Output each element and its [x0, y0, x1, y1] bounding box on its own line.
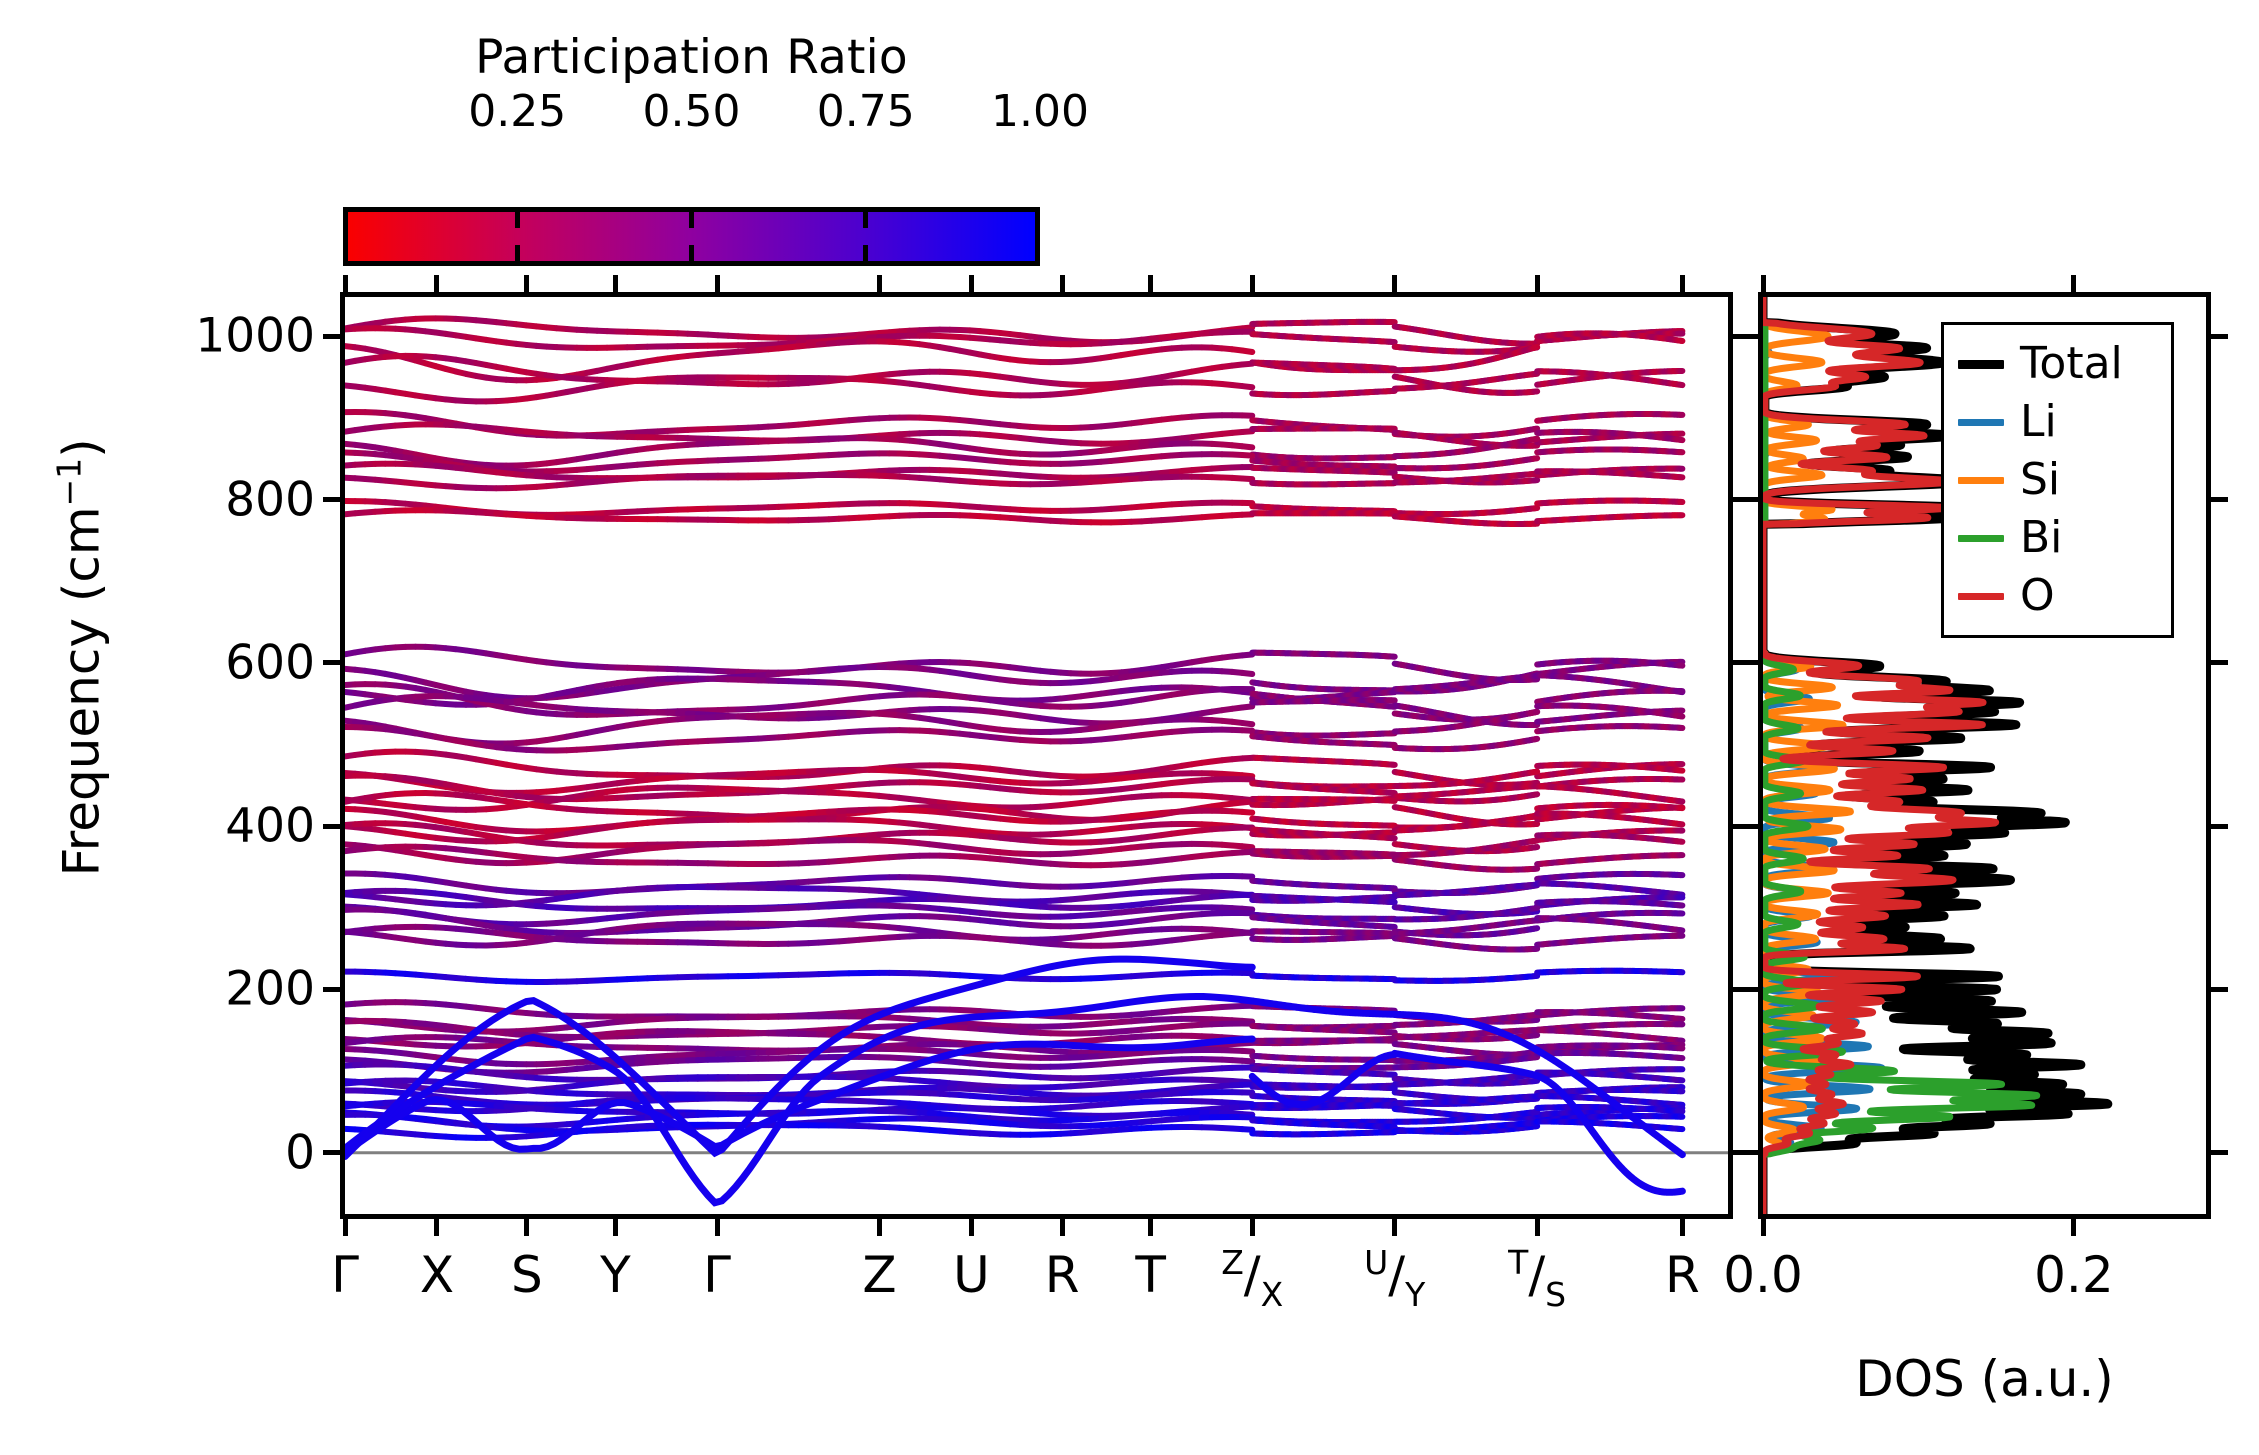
- colorbar-tick-mark: [515, 212, 520, 228]
- colorbar-tick-label: 0.25: [468, 86, 566, 137]
- colorbar-title: Participation Ratio: [343, 30, 1040, 85]
- band-line: [1242, 455, 1252, 456]
- colorbar-tick-mark: [863, 245, 868, 261]
- band-line: [1242, 327, 1252, 328]
- colorbar-tick-label: 0.75: [817, 86, 915, 137]
- colorbar-tick-label: 1.00: [991, 86, 1089, 137]
- colorbar-tick-labels: 0.250.500.751.00: [343, 86, 1040, 142]
- colorbar-tick-mark: [863, 212, 868, 228]
- band-line: [1242, 351, 1252, 352]
- colorbar-tick-mark: [689, 212, 694, 228]
- colorbar: [343, 207, 1040, 266]
- band-line: [1242, 478, 1252, 479]
- phonon-band-structure-axes: [340, 292, 1733, 1219]
- band-line: [1242, 446, 1252, 447]
- band-plot-area: [345, 297, 1728, 1214]
- figure-canvas: Participation Ratio 0.250.500.751.00 020…: [0, 0, 2259, 1455]
- colorbar-tick-mark: [689, 245, 694, 261]
- band-curves: [345, 297, 1728, 1214]
- colorbar-tick-label: 0.50: [643, 86, 741, 137]
- colorbar-tick-mark: [515, 245, 520, 261]
- band-line: [1242, 386, 1252, 387]
